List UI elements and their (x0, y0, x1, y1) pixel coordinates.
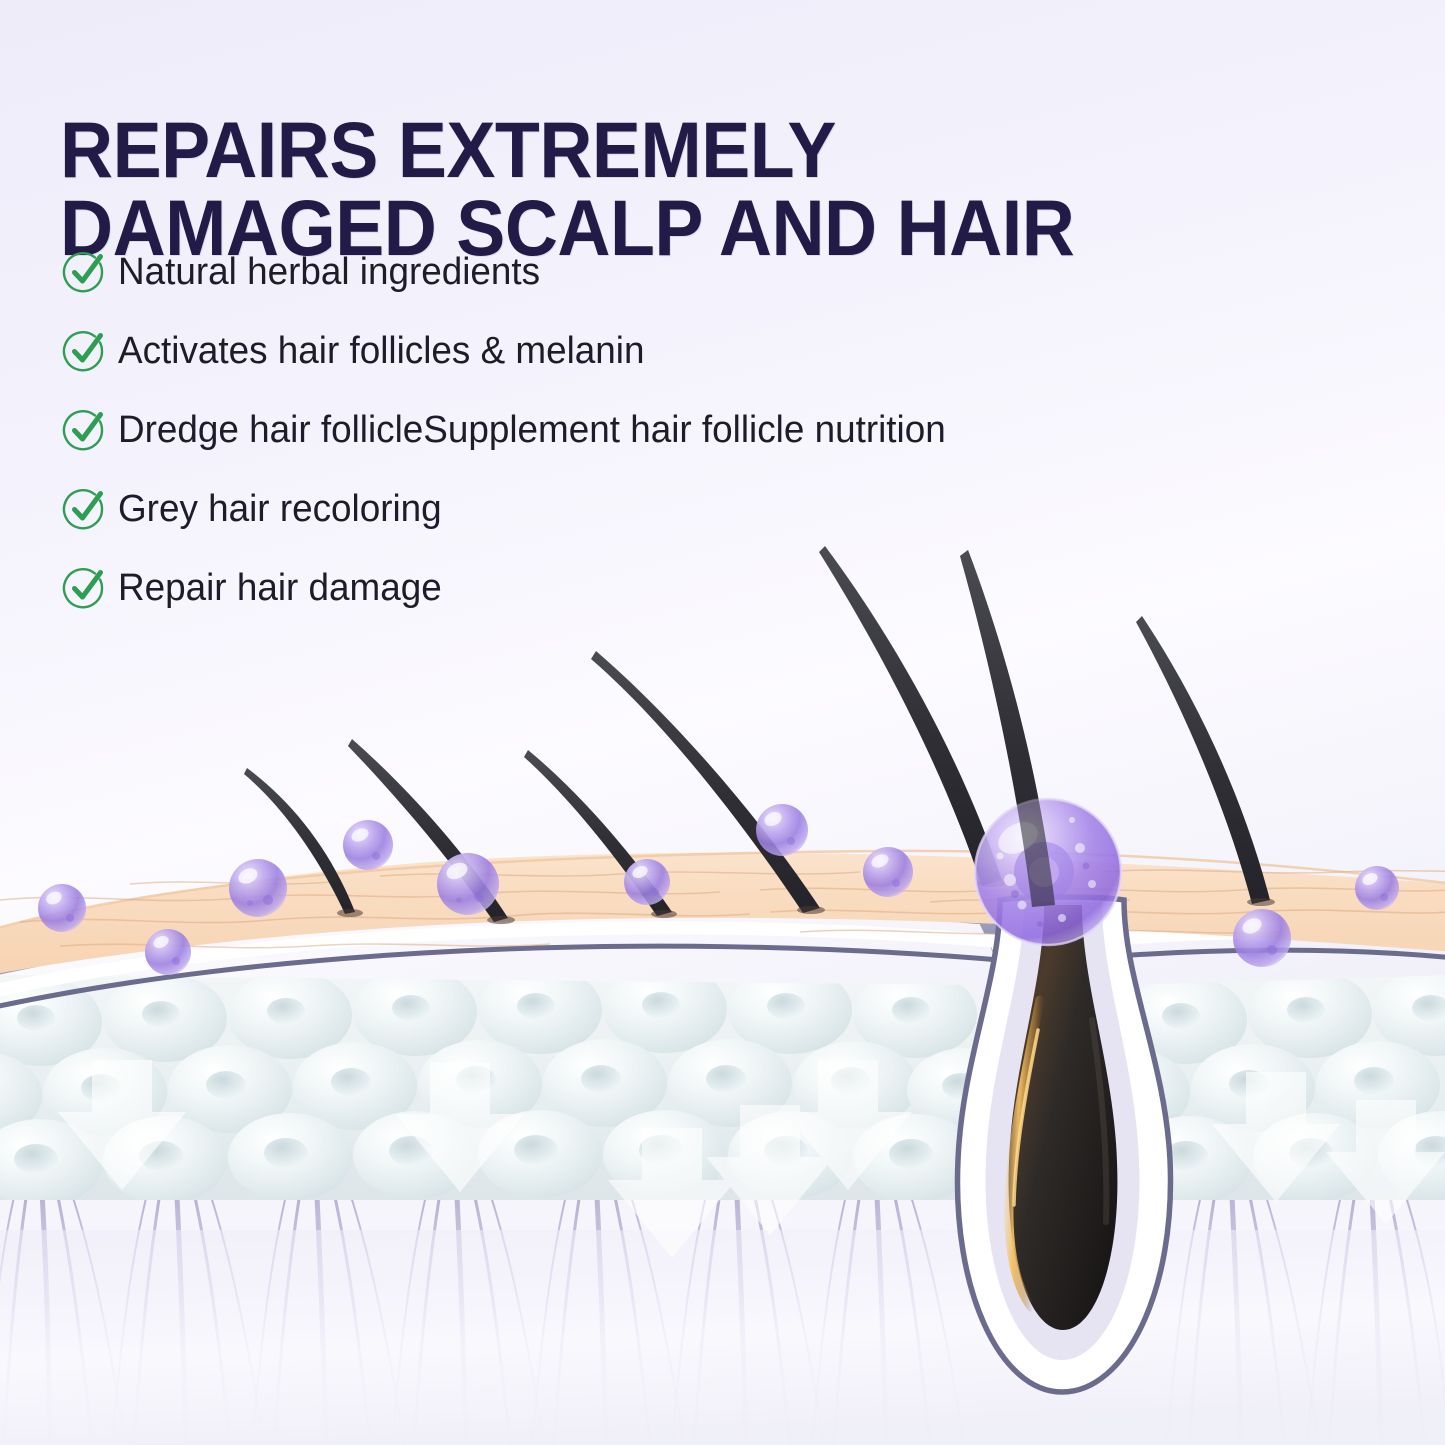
serum-bubble (437, 853, 499, 915)
serum-bubble (1233, 909, 1291, 967)
serum-bubble (863, 847, 913, 897)
benefit-item-5: Repair hair damage (62, 564, 971, 612)
benefit-label: Repair hair damage (118, 569, 442, 607)
serum-bubble (229, 859, 287, 917)
serum-bubble (1355, 866, 1399, 910)
serum-bubble (38, 884, 86, 932)
benefit-item-4: Grey hair recoloring (62, 485, 971, 533)
benefit-item-3: Dredge hair follicleSupplement hair foll… (62, 406, 971, 454)
check-circle-icon (62, 486, 108, 532)
check-circle-icon (62, 328, 108, 374)
benefit-label: Activates hair follicles & melanin (118, 332, 644, 370)
benefit-item-1: Natural herbal ingredients (62, 248, 971, 296)
serum-bubble (343, 820, 393, 870)
check-circle-icon (62, 407, 108, 453)
check-circle-icon (62, 565, 108, 611)
serum-bubble (756, 804, 808, 856)
benefits-list: Natural herbal ingredients Activates hai… (62, 248, 971, 643)
benefit-label: Dredge hair follicleSupplement hair foll… (118, 411, 946, 449)
benefit-label: Natural herbal ingredients (118, 253, 540, 291)
benefit-item-2: Activates hair follicles & melanin (62, 327, 971, 375)
page-title: REPAIRS EXTREMELY DAMAGED SCALP AND HAIR (60, 111, 1269, 267)
check-circle-icon (62, 249, 108, 295)
headline-line-1: REPAIRS EXTREMELY (60, 111, 1269, 189)
benefit-label: Grey hair recoloring (118, 490, 442, 528)
serum-bubble (145, 929, 191, 975)
serum-bubble (624, 859, 670, 905)
product-infographic-poster: REPAIRS EXTREMELY DAMAGED SCALP AND HAIR… (0, 0, 1445, 1445)
